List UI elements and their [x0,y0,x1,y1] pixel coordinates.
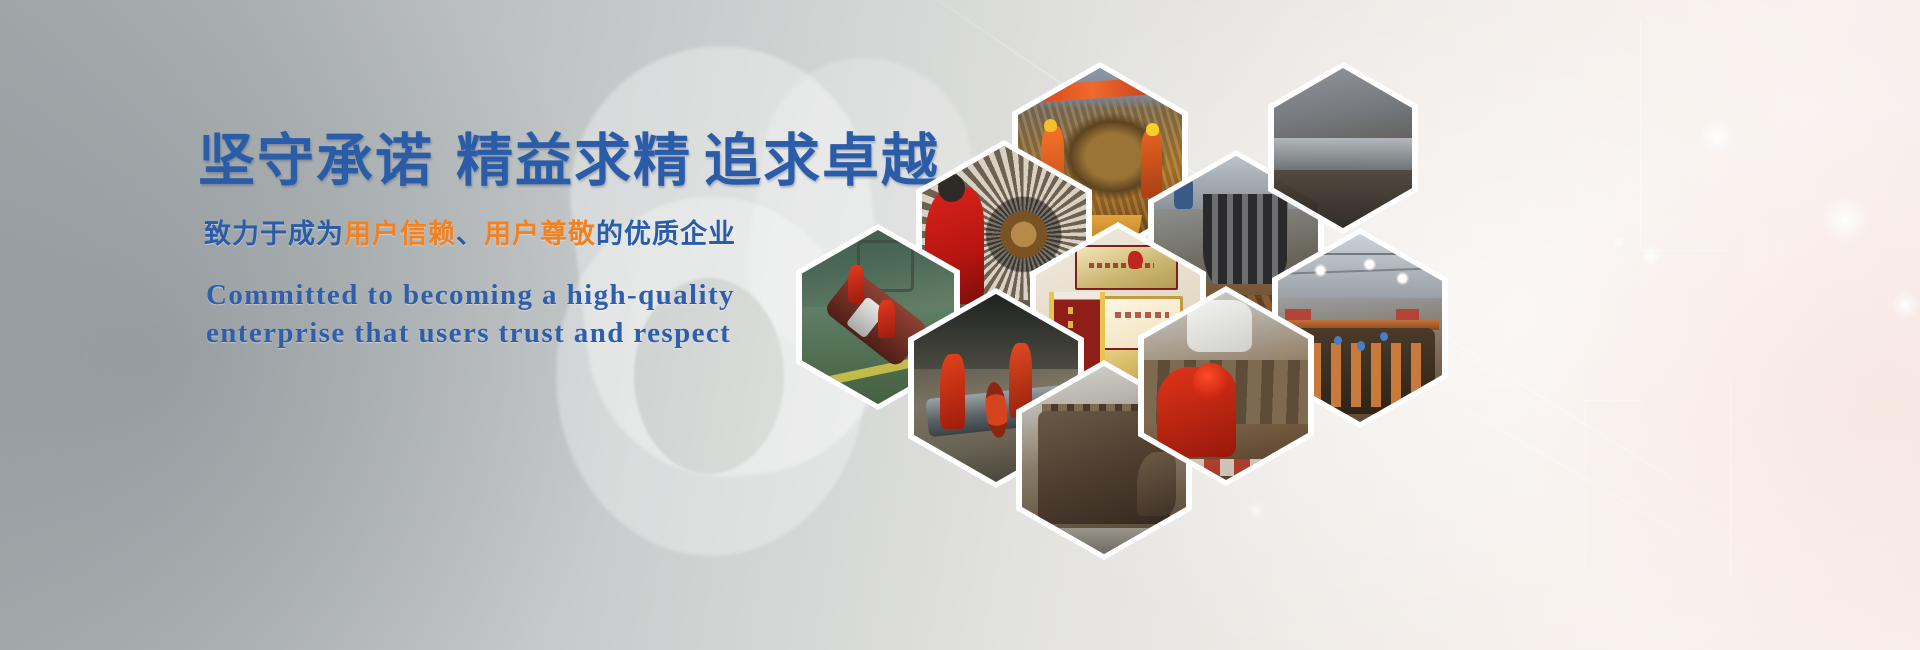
hero-banner: 坚守承诺精益求精追求卓越 致力于成为用户信赖、用户尊敬的优质企业 Committ… [0,0,1920,650]
hexagon-photo-gallery [0,0,1920,650]
